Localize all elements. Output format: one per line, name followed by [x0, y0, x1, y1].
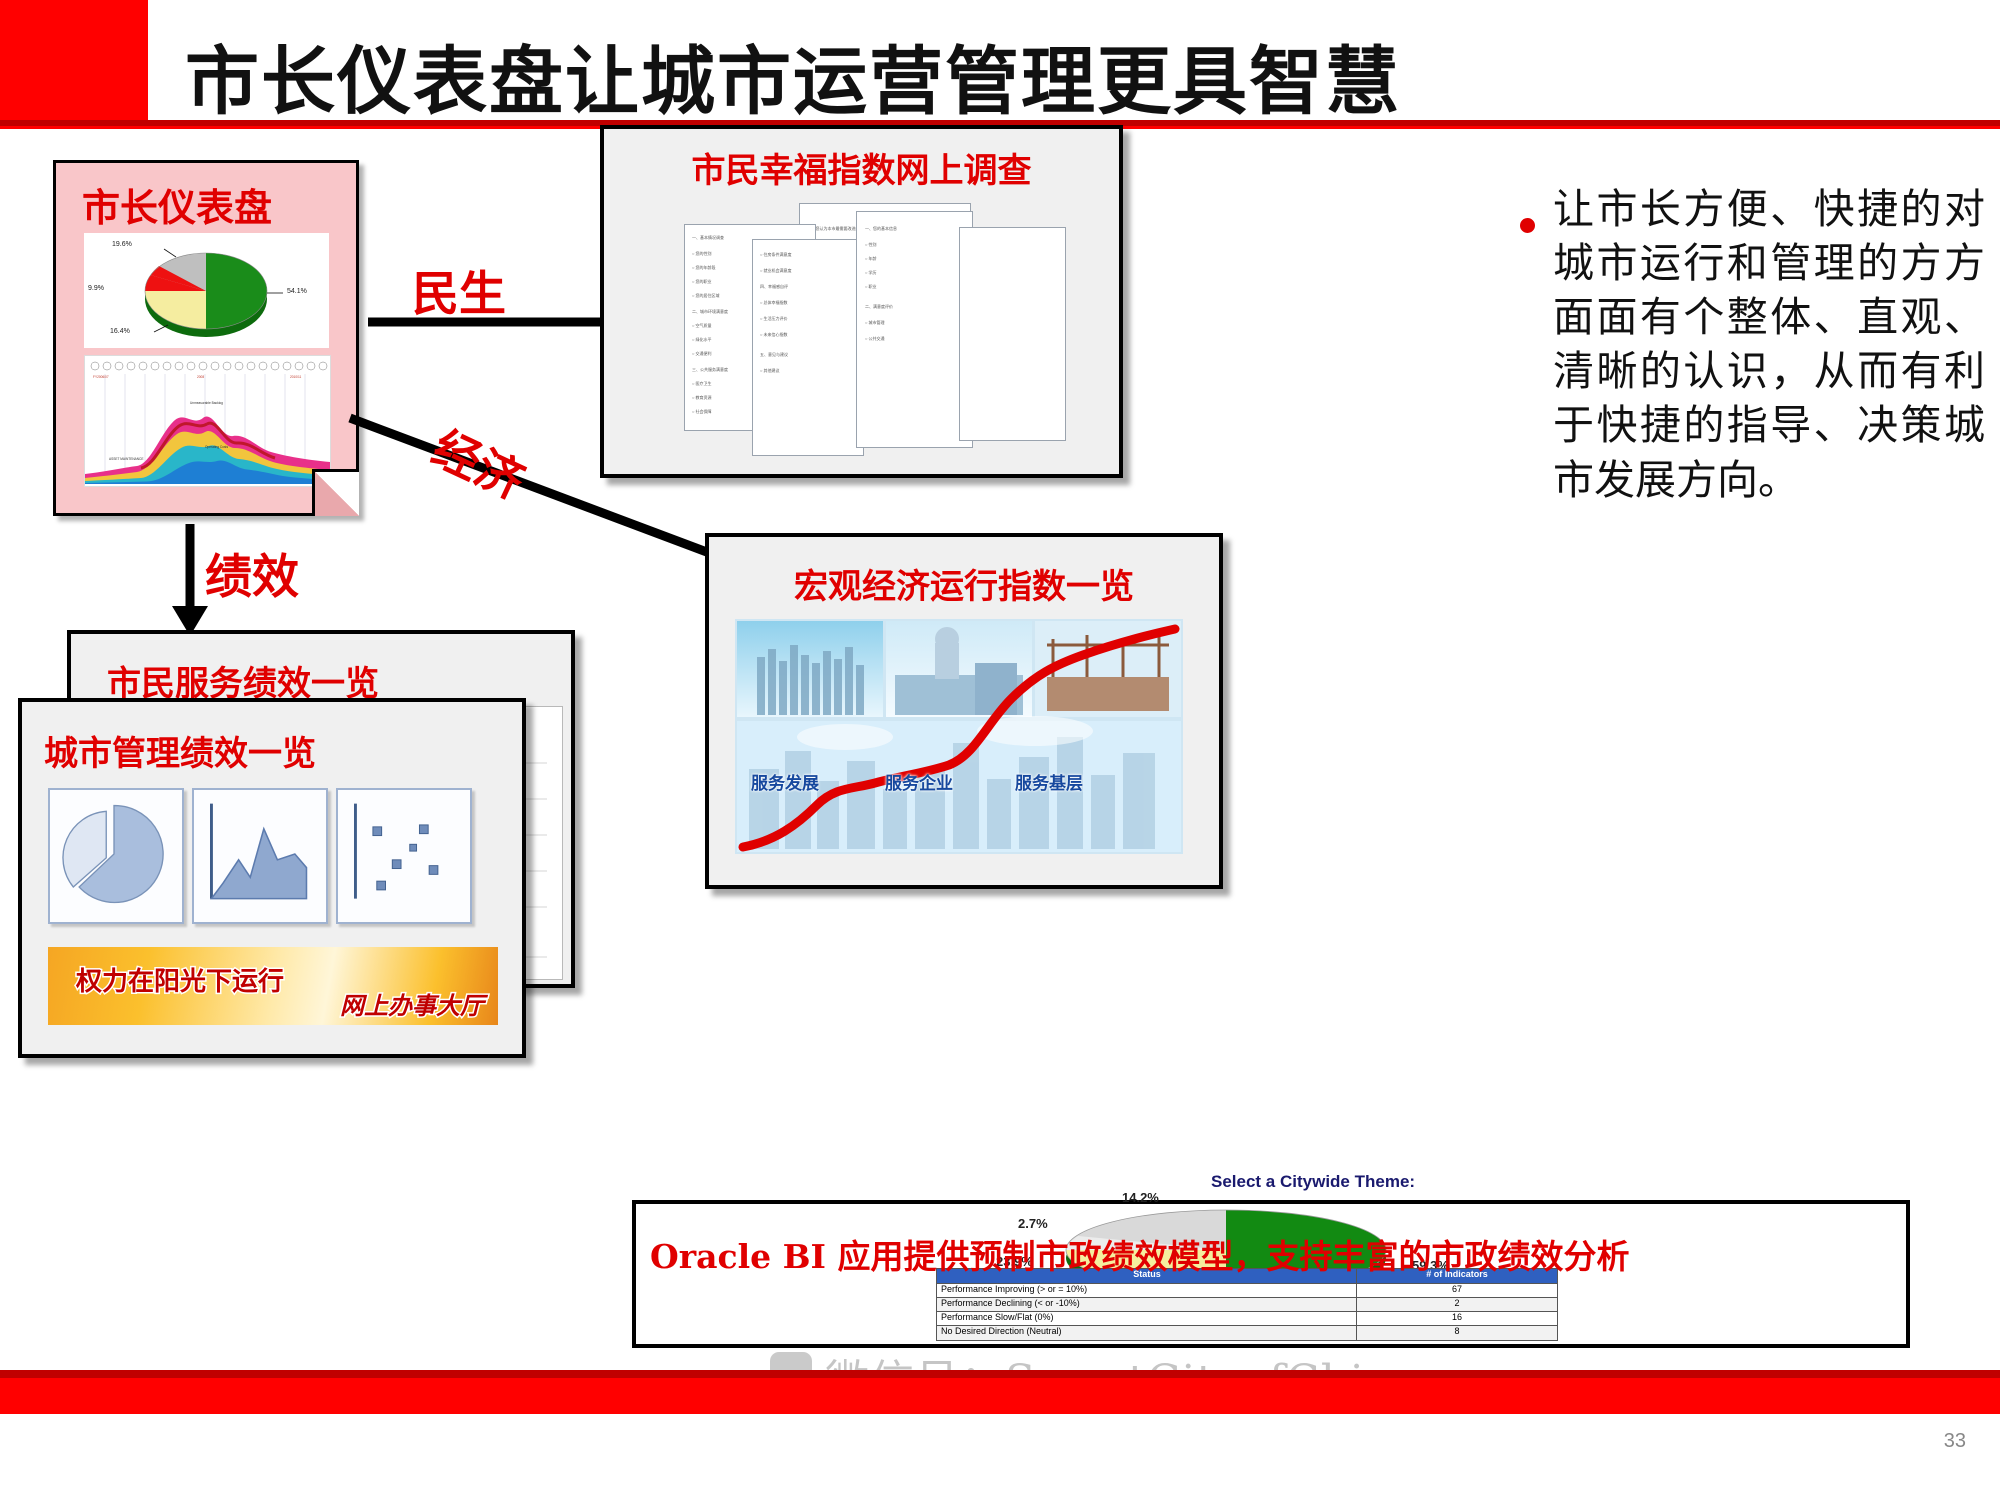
- mayor-pie-chart: 19.6% 9.9% 16.4% 54.1%: [84, 233, 329, 348]
- thumb-pie-svg: [50, 790, 178, 918]
- thumb-area-svg: [194, 790, 322, 918]
- banner-main-text: 权力在阳光下运行: [76, 961, 284, 998]
- pie-label-green: 54.1%: [287, 288, 307, 295]
- pie-label-gray: 19.6%: [112, 241, 132, 248]
- city-management-title: 城市管理绩效一览: [44, 726, 316, 775]
- survey-sheet-right: [959, 227, 1066, 441]
- svg-text:Operating Costs: Operating Costs: [205, 445, 228, 449]
- sunlight-power-banner: 权力在阳光下运行 网上办事大厅: [48, 947, 498, 1025]
- macro-economy-title: 宏观经济运行指数一览: [709, 559, 1219, 608]
- survey-panel[interactable]: 市民幸福指数网上调查 ○ 您认为本市最需要改进的公共服务是哪一项？ 一、基本情况…: [600, 125, 1123, 478]
- page-title: 市长仪表盘让城市运营管理更具智慧: [185, 22, 1685, 129]
- macro-caption-1: 服务企业: [885, 769, 953, 794]
- bullet-dot-icon: [1520, 218, 1535, 233]
- thumb-scatter-chart[interactable]: [336, 788, 472, 924]
- svg-text:FY2006/07: FY2006/07: [93, 375, 109, 379]
- thumb-area-chart[interactable]: [192, 788, 328, 924]
- page-number: 33: [1944, 1430, 1966, 1453]
- banner-sub-text: 网上办事大厅: [340, 986, 484, 1021]
- mayor-stream-chart: FY2006/07 2008 2010/11 Unmeasurable Back…: [84, 355, 331, 487]
- macro-economy-collage: 服务发展 服务企业 服务基层: [735, 619, 1183, 854]
- flow-label-jixiao: 绩效: [205, 538, 299, 607]
- svg-text:2.7%: 2.7%: [1018, 1216, 1048, 1231]
- svg-text:14.2%: 14.2%: [1122, 1190, 1159, 1205]
- collage-svg: [735, 619, 1183, 854]
- macro-caption-2: 服务基层: [1015, 769, 1083, 794]
- footer-red-band: [0, 1378, 2000, 1414]
- mayor-dashboard-card[interactable]: 市长仪表盘 19.6% 9.9% 16.4% 54.1%: [53, 160, 359, 516]
- pie-label-yellow: 16.4%: [110, 328, 130, 335]
- survey-sheet-mid: ○ 住房条件满意度 ○ 就业机会满意度 四、幸福感自评 ○ 总体幸福指数 ○ 生…: [752, 239, 864, 456]
- macro-economy-panel[interactable]: 宏观经济运行指数一览: [705, 533, 1223, 889]
- footer-divider-dark: [0, 1370, 2000, 1378]
- macro-caption-0: 服务发展: [751, 769, 819, 794]
- oracle-bi-title: Oracle BI 应用提供预制市政绩效模型，支持丰富的市政绩效分析: [650, 1230, 1629, 1278]
- survey-sheet-right-inner: 一、您的基本信息 ○ 性别 ○ 年龄 ○ 学历 ○ 职业 二、满意度评价 ○ 城…: [856, 211, 973, 448]
- flow-label-minsheng: 民生: [412, 255, 506, 324]
- thumb-pie-chart[interactable]: [48, 788, 184, 924]
- svg-text:Unmeasurable Backlog: Unmeasurable Backlog: [190, 401, 223, 405]
- footer-white-band: [0, 1414, 2000, 1500]
- bullet-text: 让市长方便、快捷的对城市运行和管理的方方面面有个整体、直观、清晰的认识，从而有利…: [1553, 182, 1985, 507]
- svg-text:2010/11: 2010/11: [290, 375, 302, 379]
- bi-row-3-status: No Desired Direction (Neutral): [936, 1325, 1362, 1341]
- header-red-block: [0, 0, 148, 120]
- thumb-scatter-svg: [338, 790, 466, 918]
- svg-text:2008: 2008: [197, 375, 204, 379]
- city-management-panel[interactable]: 城市管理绩效一览 权力在阳光下运行: [18, 698, 526, 1058]
- stream-chart-svg: FY2006/07 2008 2010/11 Unmeasurable Back…: [85, 356, 330, 486]
- bi-row-3-count: 8: [1356, 1325, 1558, 1341]
- oracle-bi-panel[interactable]: Oracle BI 应用提供预制市政绩效模型，支持丰富的市政绩效分析 Selec…: [632, 1200, 1910, 1348]
- bi-status-table[interactable]: Status # of Indicators Performance Impro…: [936, 1268, 1556, 1340]
- svg-text:ASSET MAINTENANCE: ASSET MAINTENANCE: [109, 457, 143, 461]
- slide-root: 市长仪表盘让城市运营管理更具智慧 市长仪表盘 19.6% 9.9% 16.4% …: [0, 0, 2000, 1500]
- survey-panel-title: 市民幸福指数网上调查: [604, 143, 1119, 192]
- pie-label-red: 9.9%: [88, 285, 104, 292]
- mayor-dashboard-label: 市长仪表盘: [82, 177, 272, 232]
